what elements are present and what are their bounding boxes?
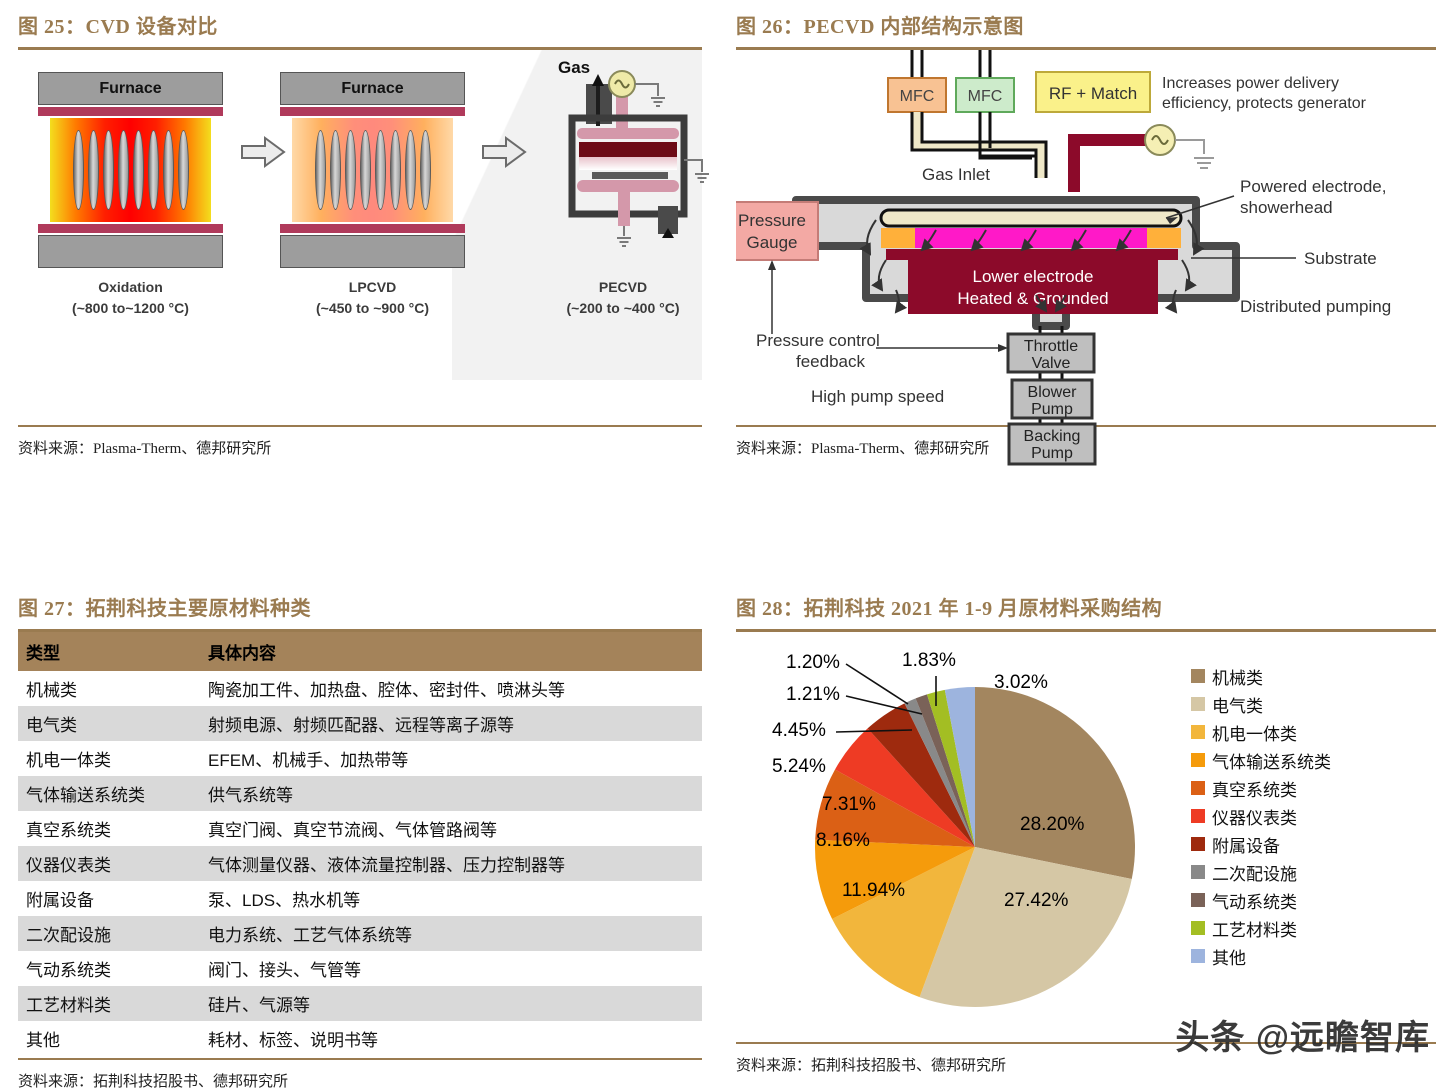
watermark: 头条 @远瞻智库 <box>1175 1010 1430 1059</box>
table-row: 二次配设施电力系统、工艺气体系统等 <box>18 916 702 951</box>
lpcvd-wafer-stack <box>292 118 453 222</box>
pie-label-gas-transport: 8.16% <box>816 830 870 852</box>
legend-label: 仪器仪表类 <box>1212 804 1297 829</box>
figure-28-chart: 1.20% 1.83% 1.21% 4.45% 5.24% 3.02% 7.31… <box>736 632 1436 1042</box>
backing-pump-line1: Backing <box>1024 428 1081 445</box>
pie-label-vacuum: 7.31% <box>822 794 876 816</box>
pressure-gauge-line1: Pressure <box>738 211 806 230</box>
figure-28-title: 图 28：拓荆科技 2021 年 1-9 月原材料采购结构 <box>736 592 1436 621</box>
powered-electrode-line2: showerhead <box>1240 198 1333 217</box>
legend-label: 机电一体类 <box>1212 720 1297 745</box>
cell-content: 电力系统、工艺气体系统等 <box>200 916 702 951</box>
pie-label-callout-accessory: 4.45% <box>772 720 826 742</box>
lpcvd-name: LPCVD <box>280 277 465 298</box>
legend-item-附属设备[interactable]: 附属设备 <box>1191 830 1331 858</box>
cell-type: 其他 <box>18 1021 200 1056</box>
legend-label: 真空系统类 <box>1212 776 1297 801</box>
column-header-type: 类型 <box>18 632 200 671</box>
blower-pump-line1: Blower <box>1028 384 1078 401</box>
oxidation-hot-zone <box>50 118 211 222</box>
pie-label-other: 3.02% <box>994 672 1048 694</box>
lower-electrode-line1: Lower electrode <box>973 267 1094 286</box>
raw-material-table: 类型 具体内容 机械类陶瓷加工件、加热盘、腔体、密封件、喷淋头等电气类射频电源、… <box>18 632 702 1056</box>
cell-content: 供气系统等 <box>200 776 702 811</box>
figure-27-title: 图 27：拓荆科技主要原材料种类 <box>18 592 702 621</box>
blower-pump-line2: Pump <box>1031 401 1073 418</box>
cell-type: 二次配设施 <box>18 916 200 951</box>
table-row: 机电一体类EFEM、机械手、加热带等 <box>18 741 702 776</box>
cell-content: 陶瓷加工件、加热盘、腔体、密封件、喷淋头等 <box>200 671 702 706</box>
lpcvd-bottom-rail <box>280 224 465 233</box>
legend-item-机械类[interactable]: 机械类 <box>1191 662 1331 690</box>
pie-label-callout-secondary: 1.21% <box>786 684 840 706</box>
pecvd-internal-structure-svg: MFC MFC RF + Match Increases power deliv… <box>736 50 1436 425</box>
legend-label: 工艺材料类 <box>1212 916 1297 941</box>
rf-note-line1: Increases power delivery <box>1162 75 1339 92</box>
pressure-gauge-line2: Gauge <box>746 233 797 252</box>
legend-label: 气动系统类 <box>1212 888 1297 913</box>
legend-label: 其他 <box>1212 944 1246 969</box>
pressure-control-line2: feedback <box>796 352 865 371</box>
legend-item-机电一体类[interactable]: 机电一体类 <box>1191 718 1331 746</box>
oxidation-caption: Oxidation (~800 to~1200 °C) <box>38 277 223 319</box>
cell-content: 硅片、气源等 <box>200 986 702 1021</box>
cell-content: EFEM、机械手、加热带等 <box>200 741 702 776</box>
lpcvd-hot-zone <box>292 118 453 222</box>
legend-label: 附属设备 <box>1212 832 1280 857</box>
legend-item-工艺材料类[interactable]: 工艺材料类 <box>1191 914 1331 942</box>
pie-slice-机械类[interactable] <box>975 687 1135 879</box>
pie-label-callout-material: 1.83% <box>902 650 956 672</box>
backing-pump-box: Backing Pump <box>1006 422 1106 472</box>
mfc-2-label: MFC <box>968 88 1003 105</box>
column-header-content: 具体内容 <box>200 632 702 671</box>
table-row: 气动系统类阀门、接头、气管等 <box>18 951 702 986</box>
pecvd-temp: (~200 to ~400 °C) <box>523 298 723 319</box>
figure-27-bottom-rule <box>18 1058 702 1060</box>
cell-content: 气体测量仪器、液体流量控制器、压力控制器等 <box>200 846 702 881</box>
oxidation-unit: Furnace Oxidation (~800 to~1200 °C) <box>38 72 223 268</box>
figure-25-bottom-rule <box>18 425 702 427</box>
lpcvd-caption: LPCVD (~450 to ~900 °C) <box>280 277 465 319</box>
arrow-right-icon-2 <box>481 135 527 169</box>
legend-item-二次配设施[interactable]: 二次配设施 <box>1191 858 1331 886</box>
legend-swatch-icon <box>1191 893 1205 907</box>
high-pump-speed-label: High pump speed <box>811 387 944 406</box>
oxidation-wafer-stack <box>50 118 211 222</box>
figure-28-panel: 图 28：拓荆科技 2021 年 1-9 月原材料采购结构 1.20% 1.83… <box>736 592 1436 1075</box>
figure-25-source: 资料来源：Plasma-Therm、德邦研究所 <box>18 437 702 458</box>
cell-type: 电气类 <box>18 706 200 741</box>
pie-label-callout-instrument: 5.24% <box>772 756 826 778</box>
oxidation-temp: (~800 to~1200 °C) <box>38 298 223 319</box>
legend-item-其他[interactable]: 其他 <box>1191 942 1331 970</box>
figure-26-panel: 图 26：PECVD 内部结构示意图 MFC MFC RF + Match In… <box>736 10 1436 458</box>
pie-label-mechanical: 28.20% <box>1020 814 1084 836</box>
substrate-label: Substrate <box>1304 249 1377 268</box>
cell-content: 耗材、标签、说明书等 <box>200 1021 702 1056</box>
lpcvd-top-rail <box>280 107 465 116</box>
figure-26-diagram: MFC MFC RF + Match Increases power deliv… <box>736 50 1436 425</box>
legend-item-气动系统类[interactable]: 气动系统类 <box>1191 886 1331 914</box>
cell-content: 射频电源、射频匹配器、远程等离子源等 <box>200 706 702 741</box>
table-row: 真空系统类真空门阀、真空节流阀、气体管路阀等 <box>18 811 702 846</box>
pie-label-electromech: 11.94% <box>842 880 905 902</box>
cell-content: 阀门、接头、气管等 <box>200 951 702 986</box>
table-row: 机械类陶瓷加工件、加热盘、腔体、密封件、喷淋头等 <box>18 671 702 706</box>
figure-25-diagram: Furnace Oxidation (~800 to~1200 °C) Furn… <box>18 50 702 425</box>
cell-type: 工艺材料类 <box>18 986 200 1021</box>
cell-type: 仪器仪表类 <box>18 846 200 881</box>
cell-type: 真空系统类 <box>18 811 200 846</box>
lpcvd-unit: Furnace LPCVD (~450 to ~900 °C) <box>280 72 465 268</box>
legend-item-电气类[interactable]: 电气类 <box>1191 690 1331 718</box>
figure-27-panel: 图 27：拓荆科技主要原材料种类 类型 具体内容 机械类陶瓷加工件、加热盘、腔体… <box>18 592 702 1091</box>
legend-item-真空系统类[interactable]: 真空系统类 <box>1191 774 1331 802</box>
table-row: 电气类射频电源、射频匹配器、远程等离子源等 <box>18 706 702 741</box>
oxidation-name: Oxidation <box>38 277 223 298</box>
table-row: 气体输送系统类供气系统等 <box>18 776 702 811</box>
pie-label-callout-gas-dong: 1.20% <box>786 652 840 674</box>
legend-swatch-icon <box>1191 669 1205 683</box>
oxidation-top-rail <box>38 107 223 116</box>
legend-item-仪器仪表类[interactable]: 仪器仪表类 <box>1191 802 1331 830</box>
lower-electrode-line2: Heated & Grounded <box>957 289 1108 308</box>
gas-inlet-label: Gas Inlet <box>922 165 990 184</box>
legend-swatch-icon <box>1191 725 1205 739</box>
cell-content: 泵、LDS、热水机等 <box>200 881 702 916</box>
cell-type: 附属设备 <box>18 881 200 916</box>
table-row: 附属设备泵、LDS、热水机等 <box>18 881 702 916</box>
oxidation-base <box>38 235 223 268</box>
legend-label: 二次配设施 <box>1212 860 1297 885</box>
pecvd-chamber-diagram <box>530 56 720 266</box>
table-row: 仪器仪表类气体测量仪器、液体流量控制器、压力控制器等 <box>18 846 702 881</box>
cell-type: 气体输送系统类 <box>18 776 200 811</box>
oxidation-bottom-rail <box>38 224 223 233</box>
figure-26-title: 图 26：PECVD 内部结构示意图 <box>736 10 1436 39</box>
cell-type: 气动系统类 <box>18 951 200 986</box>
lpcvd-base <box>280 235 465 268</box>
pie-label-electrical: 27.42% <box>1004 890 1068 912</box>
throttle-valve-line2: Valve <box>1032 355 1071 372</box>
rf-match-label: RF + Match <box>1049 84 1137 103</box>
figure-25-panel: 图 25：CVD 设备对比 Furnace Oxidation (~800 to… <box>18 10 702 458</box>
legend-label: 气体输送系统类 <box>1212 748 1331 773</box>
cell-content: 真空门阀、真空节流阀、气体管路阀等 <box>200 811 702 846</box>
table-row: 工艺材料类硅片、气源等 <box>18 986 702 1021</box>
legend-swatch-icon <box>1191 753 1205 767</box>
cell-type: 机电一体类 <box>18 741 200 776</box>
legend-swatch-icon <box>1191 781 1205 795</box>
table-row: 其他耗材、标签、说明书等 <box>18 1021 702 1056</box>
pressure-control-line1: Pressure control <box>756 331 880 350</box>
lpcvd-temp: (~450 to ~900 °C) <box>280 298 465 319</box>
cell-type: 机械类 <box>18 671 200 706</box>
legend-swatch-icon <box>1191 921 1205 935</box>
backing-pump-line2: Pump <box>1031 445 1073 462</box>
figure-25-title: 图 25：CVD 设备对比 <box>18 10 702 39</box>
pie-legend: 机械类电气类机电一体类气体输送系统类真空系统类仪器仪表类附属设备二次配设施气动系… <box>1191 662 1331 970</box>
distributed-pumping-label: Distributed pumping <box>1240 297 1391 316</box>
legend-swatch-icon <box>1191 837 1205 851</box>
lpcvd-furnace-label: Furnace <box>280 72 465 105</box>
legend-swatch-icon <box>1191 949 1205 963</box>
legend-label: 电气类 <box>1212 692 1263 717</box>
rf-note-line2: efficiency, protects generator <box>1162 95 1367 112</box>
legend-swatch-icon <box>1191 865 1205 879</box>
legend-swatch-icon <box>1191 809 1205 823</box>
table-header-row: 类型 具体内容 <box>18 632 702 671</box>
pecvd-name: PECVD <box>523 277 723 298</box>
throttle-valve-line1: Throttle <box>1024 338 1078 355</box>
oxidation-furnace-label: Furnace <box>38 72 223 105</box>
legend-swatch-icon <box>1191 697 1205 711</box>
legend-item-气体输送系统类[interactable]: 气体输送系统类 <box>1191 746 1331 774</box>
pecvd-gas-label: Gas <box>558 58 590 78</box>
pecvd-caption: PECVD (~200 to ~400 °C) <box>523 277 723 319</box>
legend-label: 机械类 <box>1212 664 1263 689</box>
table-body: 机械类陶瓷加工件、加热盘、腔体、密封件、喷淋头等电气类射频电源、射频匹配器、远程… <box>18 671 702 1056</box>
powered-electrode-line1: Powered electrode, <box>1240 177 1386 196</box>
mfc-1-label: MFC <box>900 88 935 105</box>
